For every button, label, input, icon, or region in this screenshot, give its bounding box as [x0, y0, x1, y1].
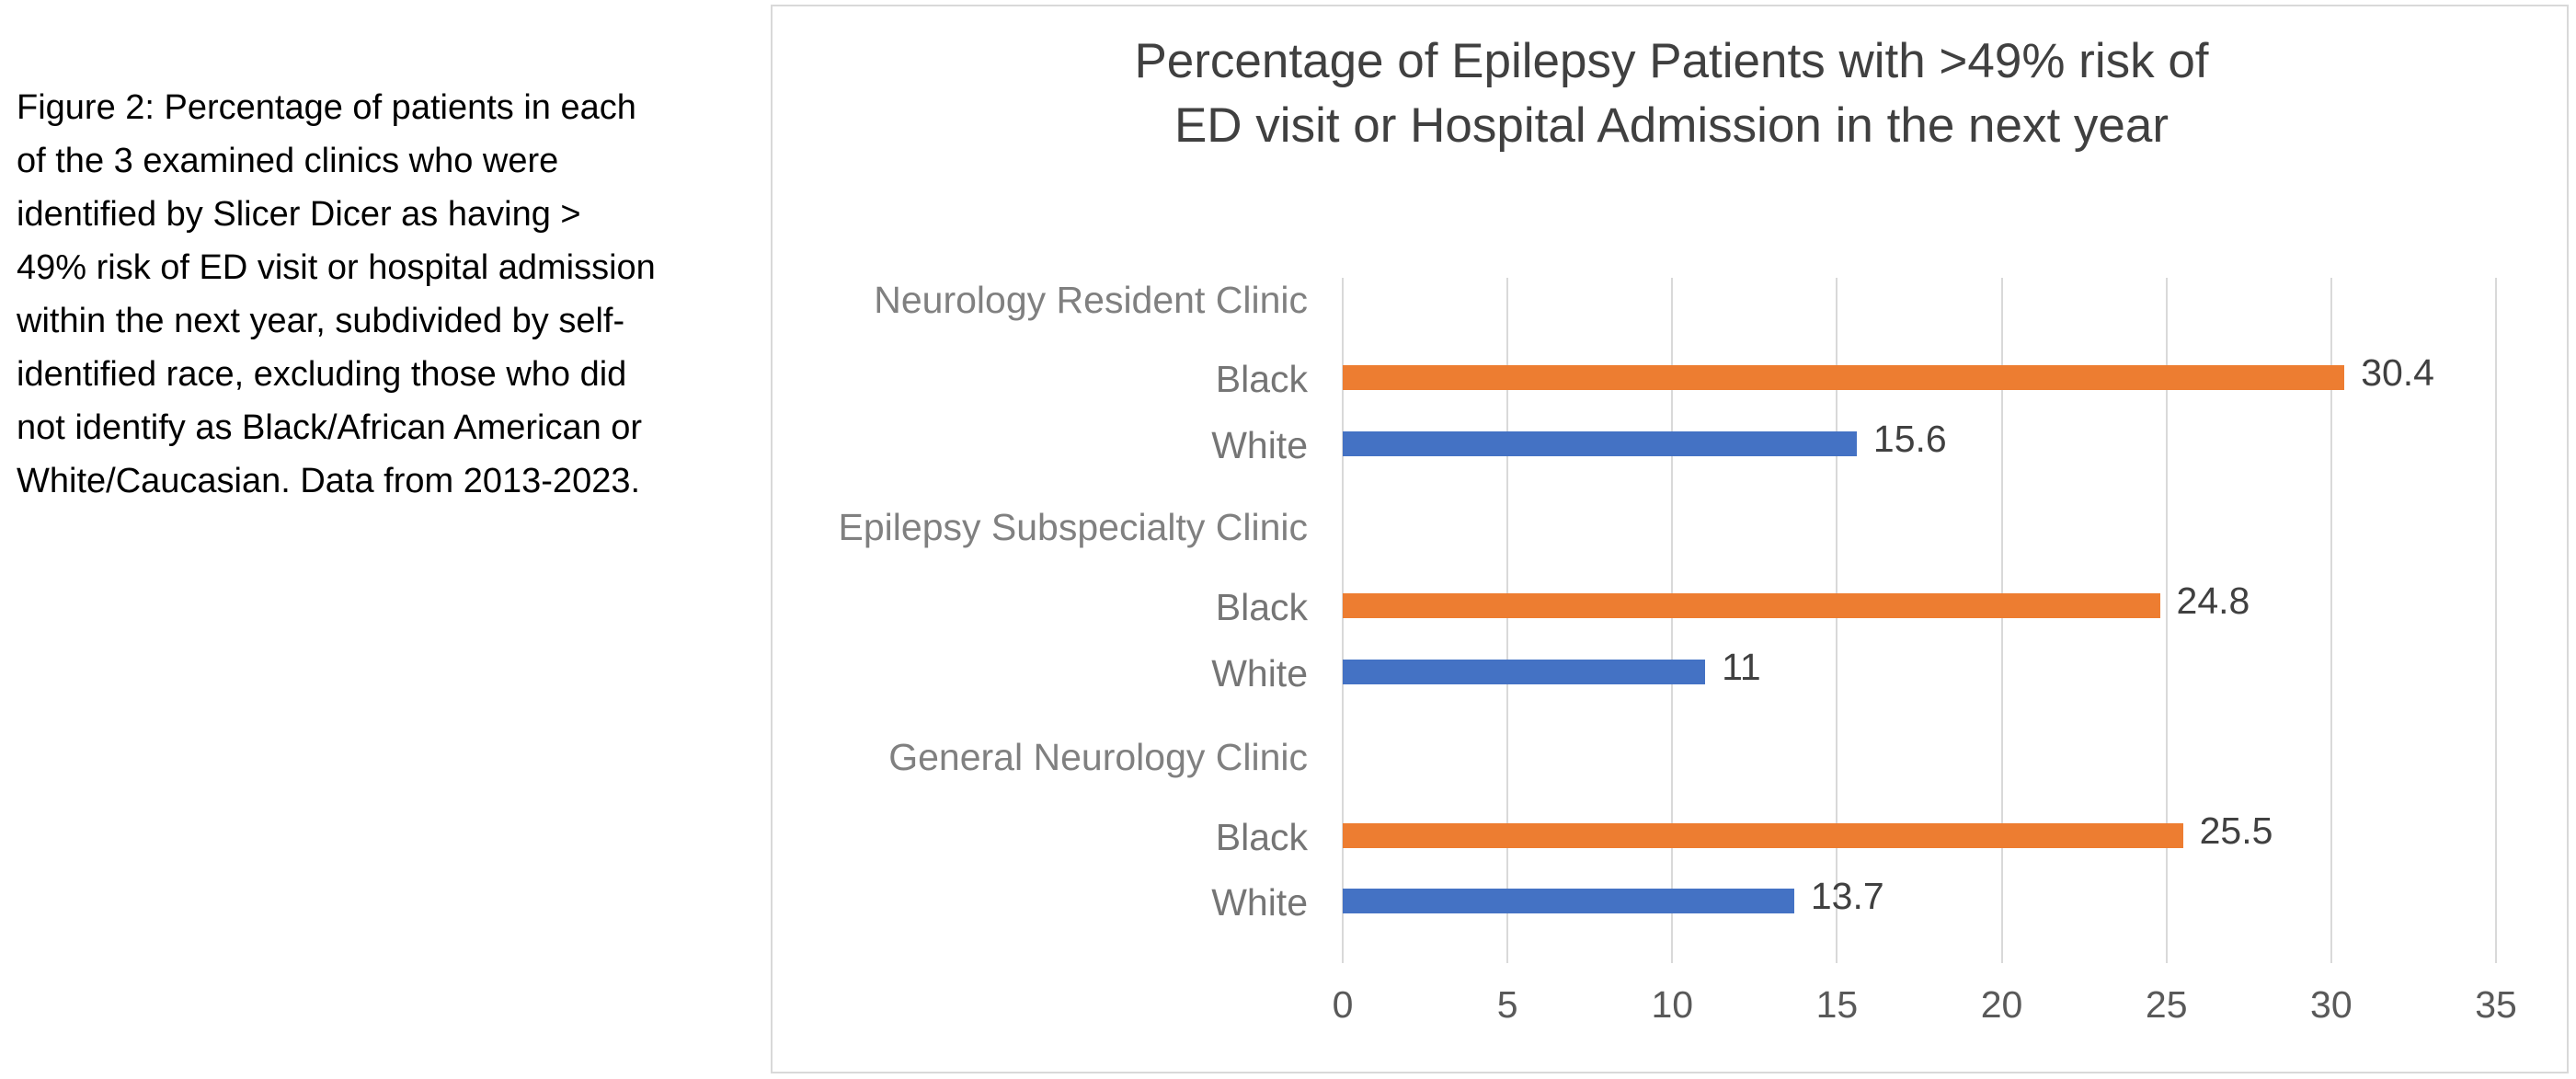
bar-black[interactable] [1343, 365, 2344, 390]
bar-white[interactable] [1343, 431, 1857, 456]
y-axis-category-labels: Neurology Resident ClinicBlackWhiteEpile… [773, 278, 1324, 963]
bar-black[interactable] [1343, 593, 2160, 618]
y-axis-series-label: White [1211, 880, 1308, 924]
y-axis-series-label: Black [1216, 357, 1308, 401]
bar-value-label: 15.6 [1873, 427, 1947, 452]
chart-container: Percentage of Epilepsy Patients with >49… [771, 5, 2569, 1073]
x-axis-tick-label: 15 [1816, 981, 1859, 1027]
bar-white[interactable] [1343, 889, 1794, 913]
bar-value-label: 25.5 [2200, 819, 2273, 844]
x-axis-tick-label: 20 [1981, 981, 2023, 1027]
y-axis-group-label: Epilepsy Subspecialty Clinic [839, 505, 1308, 549]
figure-caption-block: Figure 2: Percentage of patients in each… [17, 81, 660, 508]
chart-title: Percentage of Epilepsy Patients with >49… [828, 29, 2515, 158]
bar-black[interactable] [1343, 823, 2183, 848]
bar-white[interactable] [1343, 660, 1705, 684]
gridline [2495, 278, 2497, 963]
y-axis-series-label: Black [1216, 585, 1308, 629]
bar-value-label: 30.4 [2361, 361, 2434, 385]
bar-value-label: 11 [1722, 655, 1761, 680]
y-axis-group-label: General Neurology Clinic [888, 735, 1308, 779]
plot-area: 30.415.624.81125.513.7 [1343, 278, 2496, 963]
bar-value-label: 24.8 [2177, 589, 2250, 614]
y-axis-series-label: White [1211, 423, 1308, 467]
bar-value-label: 13.7 [1811, 884, 1884, 909]
y-axis-series-label: White [1211, 651, 1308, 695]
x-axis-tick-label: 30 [2310, 981, 2353, 1027]
x-axis-tick-label: 10 [1651, 981, 1693, 1027]
y-axis-group-label: Neurology Resident Clinic [874, 278, 1308, 322]
figure-caption-text: Figure 2: Percentage of patients in each… [17, 81, 660, 508]
y-axis-series-label: Black [1216, 815, 1308, 859]
x-axis-tick-label: 0 [1333, 981, 1354, 1027]
x-axis-tick-label: 35 [2475, 981, 2517, 1027]
x-axis-tick-label: 5 [1497, 981, 1518, 1027]
x-axis-tick-labels: 05101520253035 [1343, 981, 2496, 1037]
x-axis-tick-label: 25 [2146, 981, 2188, 1027]
